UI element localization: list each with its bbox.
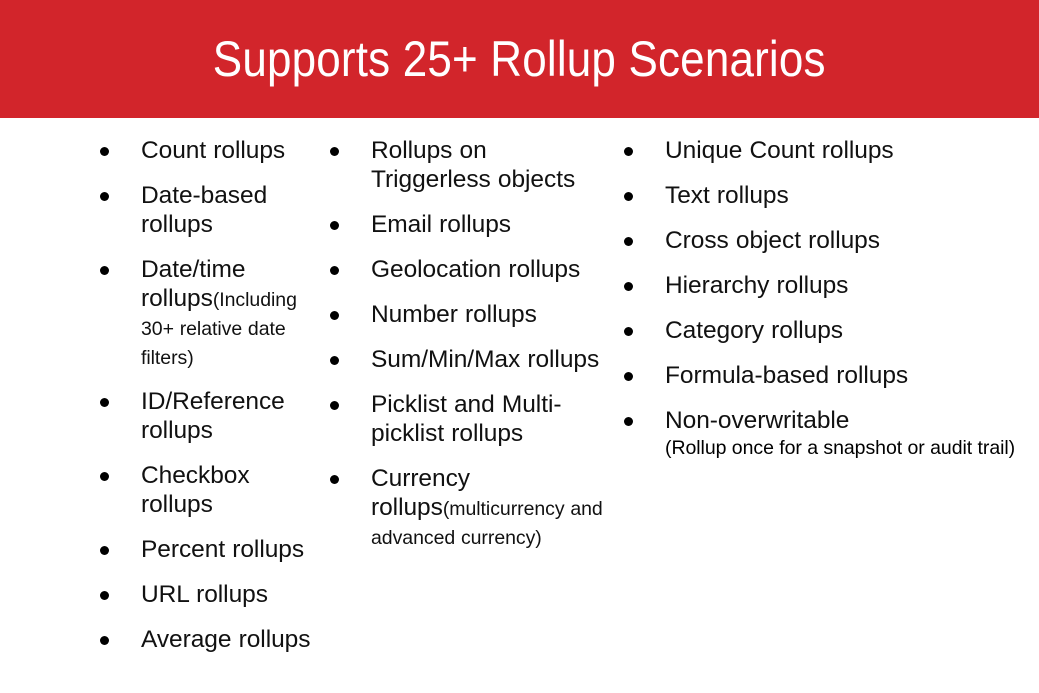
list-item-label: Non-overwritable [665, 406, 1039, 435]
bullet-list-3: Unique Count rollupsText rollupsCross ob… [620, 136, 1039, 461]
bullet-list-1: Count rollupsDate-based rollupsDate/time… [96, 136, 315, 654]
bullet-dot-icon [624, 147, 633, 156]
bullet-dot-icon [100, 636, 109, 645]
bullet-dot-icon [624, 282, 633, 291]
bullet-dot-icon [100, 398, 109, 407]
list-item-label: Checkbox rollups [141, 461, 315, 519]
bullet-list-2: Rollups on Triggerless objectsEmail roll… [326, 136, 612, 551]
bullet-dot-icon [624, 237, 633, 246]
list-item-note: (Including 30+ relative date filters) [141, 289, 297, 369]
bullet-dot-icon [624, 327, 633, 336]
list-item: Picklist and Multi-picklist rollups [326, 390, 612, 448]
bullet-dot-icon [330, 266, 339, 275]
list-item: Formula-based rollups [620, 361, 1039, 390]
list-item-label: Email rollups [371, 210, 612, 239]
bullet-dot-icon [100, 546, 109, 555]
bullet-dot-icon [100, 472, 109, 481]
list-item: Rollups on Triggerless objects [326, 136, 612, 194]
list-item-label: Category rollups [665, 316, 1039, 345]
bullet-column-1: Count rollupsDate-based rollupsDate/time… [0, 118, 315, 654]
list-item-label: Formula-based rollups [665, 361, 1039, 390]
list-item: Average rollups [96, 625, 315, 654]
bullet-dot-icon [330, 147, 339, 156]
list-item: Currency rollups(multicurrency and advan… [326, 464, 612, 551]
list-item: Text rollups [620, 181, 1039, 210]
list-item: Geolocation rollups [326, 255, 612, 284]
list-item: Percent rollups [96, 535, 315, 564]
list-item-label: Currency rollups(multicurrency and advan… [371, 464, 612, 551]
slide-root: Supports 25+ Rollup Scenarios Count roll… [0, 0, 1039, 693]
bullet-dot-icon [330, 475, 339, 484]
bullet-dot-icon [624, 372, 633, 381]
list-item: Hierarchy rollups [620, 271, 1039, 300]
list-item-note: (Rollup once for a snapshot or audit tra… [665, 435, 1039, 461]
bullet-dot-icon [330, 401, 339, 410]
list-item-label: Number rollups [371, 300, 612, 329]
list-item-label: Percent rollups [141, 535, 315, 564]
list-item-label: Picklist and Multi-picklist rollups [371, 390, 612, 448]
bullet-columns: Count rollupsDate-based rollupsDate/time… [0, 118, 1039, 693]
list-item: Count rollups [96, 136, 315, 165]
list-item: Non-overwritable(Rollup once for a snaps… [620, 406, 1039, 461]
list-item: URL rollups [96, 580, 315, 609]
bullet-dot-icon [330, 311, 339, 320]
list-item-label: ID/Reference rollups [141, 387, 315, 445]
list-item: Date-based rollups [96, 181, 315, 239]
list-item-label: Cross object rollups [665, 226, 1039, 255]
list-item-label: Sum/Min/Max rollups [371, 345, 612, 374]
list-item-label: Unique Count rollups [665, 136, 1039, 165]
list-item: Category rollups [620, 316, 1039, 345]
list-item-label: Date-based rollups [141, 181, 315, 239]
bullet-dot-icon [330, 221, 339, 230]
list-item: Sum/Min/Max rollups [326, 345, 612, 374]
bullet-column-2: Rollups on Triggerless objectsEmail roll… [315, 118, 612, 551]
list-item-label: Rollups on Triggerless objects [371, 136, 612, 194]
list-item: Checkbox rollups [96, 461, 315, 519]
list-item-label: Count rollups [141, 136, 315, 165]
list-item: Unique Count rollups [620, 136, 1039, 165]
list-item-label: Average rollups [141, 625, 315, 654]
header-band: Supports 25+ Rollup Scenarios [0, 0, 1039, 118]
bullet-dot-icon [624, 192, 633, 201]
list-item-label: Hierarchy rollups [665, 271, 1039, 300]
list-item: Cross object rollups [620, 226, 1039, 255]
bullet-dot-icon [100, 266, 109, 275]
list-item-note: (multicurrency and advanced currency) [371, 498, 603, 549]
list-item: Number rollups [326, 300, 612, 329]
list-item-label: Date/time rollups(Including 30+ relative… [141, 255, 315, 371]
list-item: Email rollups [326, 210, 612, 239]
bullet-dot-icon [330, 356, 339, 365]
list-item-label: Geolocation rollups [371, 255, 612, 284]
list-item: Date/time rollups(Including 30+ relative… [96, 255, 315, 371]
list-item-label: Text rollups [665, 181, 1039, 210]
page-title: Supports 25+ Rollup Scenarios [213, 31, 826, 87]
bullet-dot-icon [100, 147, 109, 156]
bullet-dot-icon [100, 591, 109, 600]
bullet-column-3: Unique Count rollupsText rollupsCross ob… [612, 118, 1039, 461]
list-item-label: URL rollups [141, 580, 315, 609]
bullet-dot-icon [100, 192, 109, 201]
bullet-dot-icon [624, 417, 633, 426]
list-item: ID/Reference rollups [96, 387, 315, 445]
